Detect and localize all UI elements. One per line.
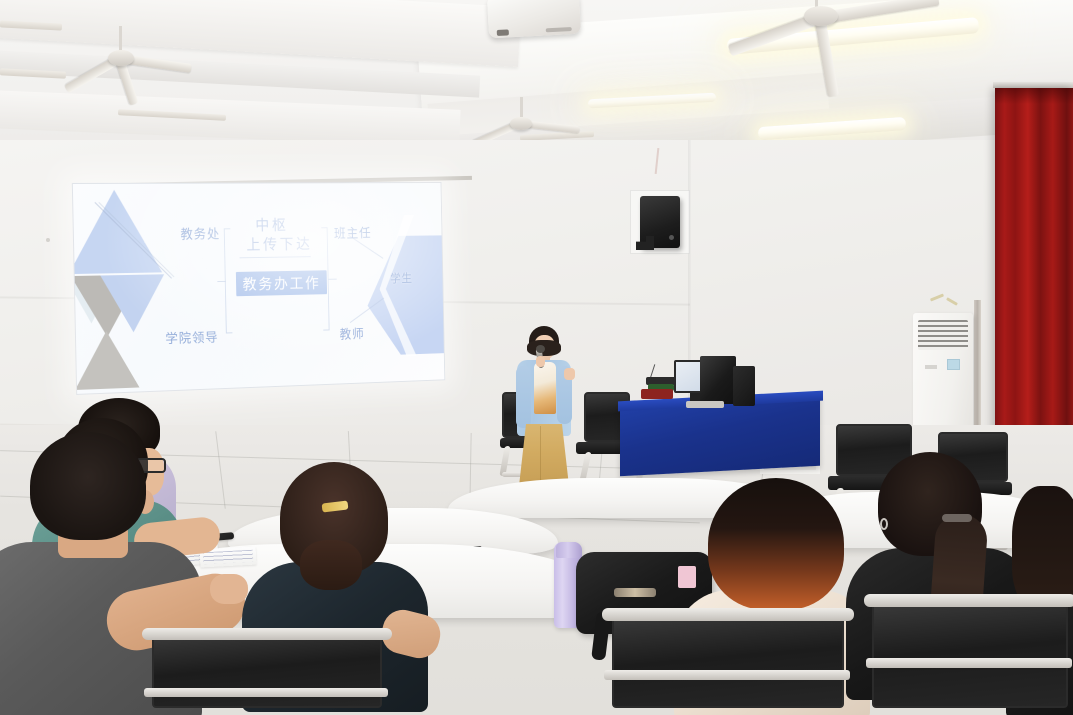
- attendee-navy-ponytail: [300, 540, 362, 590]
- earring-icon: [880, 518, 888, 530]
- pc-tower[interactable]: [700, 356, 736, 404]
- presenter-hand-right: [564, 368, 575, 380]
- fan-rod: [520, 97, 523, 117]
- slide-triangle-blue-1: [72, 190, 162, 274]
- monitor-stand: [690, 393, 700, 401]
- projector-vent: [546, 27, 572, 32]
- chair-mid-rail: [604, 670, 850, 680]
- slide-title-center: 教务办工作: [236, 270, 327, 296]
- presenter-arm-left: [516, 366, 531, 428]
- chair-top-rail: [602, 608, 854, 621]
- slide-canvas: 中枢 上传下达 教务处 班主任 学院领导 教师 学生 教务办工作: [72, 182, 445, 395]
- speaker-led: [669, 235, 674, 240]
- fan-hub: [804, 6, 838, 26]
- chair-mid-rail: [144, 688, 388, 697]
- classroom-scene: 中枢 上传下达 教务处 班主任 学院领导 教师 学生 教务办工作: [0, 0, 1073, 715]
- chair-mid-rail: [866, 658, 1072, 668]
- attendee-gray-hair: [30, 432, 146, 540]
- chair-back: [612, 616, 844, 708]
- presenter-inner-top: [534, 362, 556, 414]
- chair-foreground-right[interactable]: [864, 594, 1073, 715]
- fan-rod: [119, 26, 122, 50]
- slide-hub-line-1: 中枢: [255, 214, 289, 235]
- presenter: [508, 326, 580, 502]
- ac-label-sticker: [947, 359, 960, 370]
- slide-tick-right: [329, 279, 337, 280]
- equipment-box-red: [641, 389, 673, 399]
- keyboard[interactable]: [686, 401, 724, 408]
- presenter-hand-left: [536, 356, 545, 367]
- red-curtain[interactable]: [995, 88, 1073, 460]
- chair-top-rail: [142, 628, 392, 640]
- chair-foreground-center[interactable]: [602, 608, 864, 715]
- curtain-pleat-shadow: [995, 88, 1073, 104]
- slide-node-teachers: 教师: [339, 324, 364, 343]
- wall-mark: [46, 238, 50, 242]
- bottle-cap: [556, 542, 580, 558]
- slide-node-college-leadership: 学院领导: [165, 327, 218, 347]
- slide-node-class-teacher: 班主任: [334, 223, 372, 242]
- attendee-gray-hand: [210, 574, 248, 604]
- fan-hub: [510, 117, 532, 130]
- hair-tie-icon: [942, 514, 972, 522]
- projector-icon: [487, 0, 581, 38]
- slide-hub-line-2: 上传下达: [246, 233, 312, 254]
- chair-back: [872, 602, 1068, 708]
- pc-tower-secondary: [733, 366, 755, 406]
- chair-top-rail: [864, 594, 1073, 607]
- backpack-zipper: [614, 588, 656, 597]
- ac-logo: [925, 365, 937, 369]
- slide-tick-left: [217, 281, 225, 282]
- microphone-head: [536, 345, 545, 353]
- chair-foreground-left[interactable]: [142, 628, 402, 715]
- presenter-skirt-fold: [540, 426, 541, 482]
- ac-grille: [918, 320, 968, 350]
- slide-triangle-blue-2: [100, 274, 165, 333]
- projector-lens: [497, 29, 509, 36]
- projection-screen[interactable]: 中枢 上传下达 教务处 班主任 学院领导 教师 学生 教务办工作: [72, 182, 445, 395]
- slide-node-students: 学生: [390, 270, 413, 286]
- attendee-ombre-hair: [708, 478, 844, 610]
- presenter-skirt: [519, 424, 569, 486]
- slide-triangle-gray-2: [74, 330, 140, 390]
- slide-node-academic-affairs-office: 教务处: [180, 224, 220, 243]
- fan-hub: [108, 50, 134, 66]
